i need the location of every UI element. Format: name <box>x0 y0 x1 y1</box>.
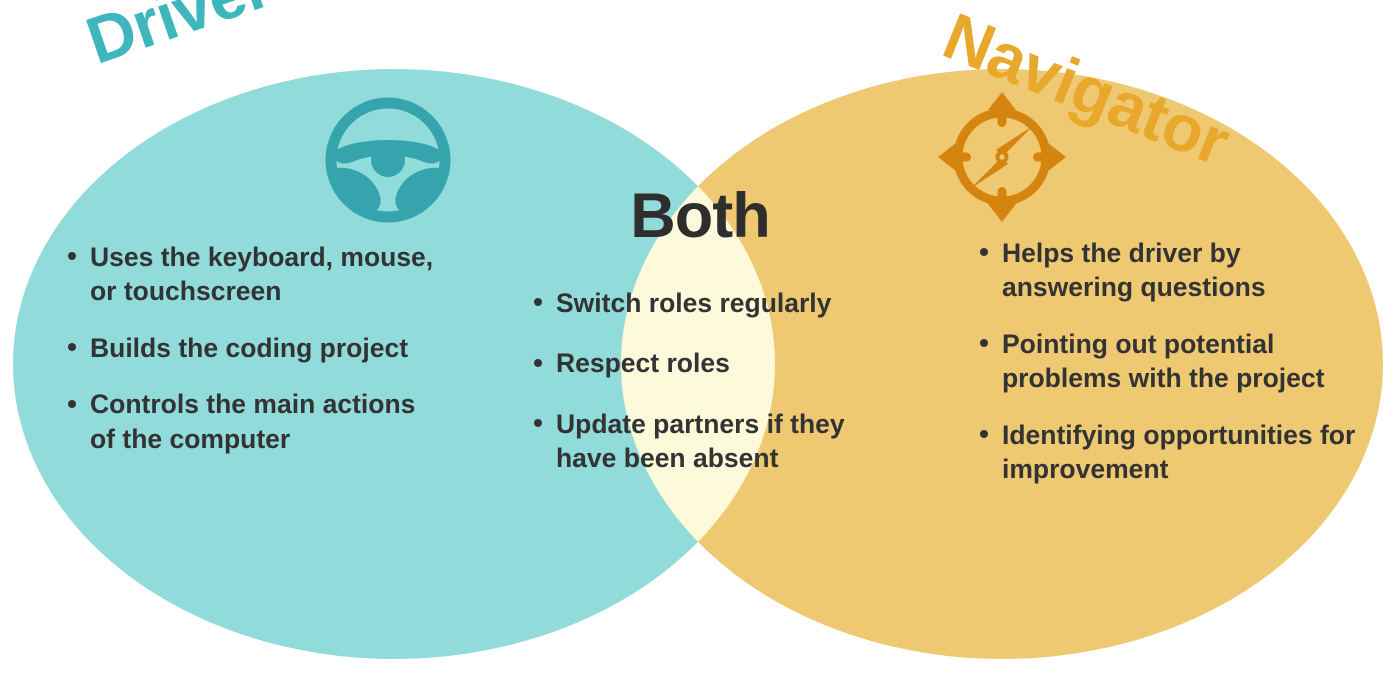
bullet-icon <box>68 252 76 260</box>
venn-diagram: Driver Navigator Uses the keyboard, mous… <box>0 0 1396 674</box>
bullet-icon <box>980 248 988 256</box>
navigator-item-label: Identifying opportunities for improvemen… <box>1002 420 1355 484</box>
list-item: Uses the keyboard, mouse, or touchscreen <box>66 240 434 309</box>
both-list: Switch roles regularly Respect roles Upd… <box>508 286 892 476</box>
list-item: Identifying opportunities for improvemen… <box>978 418 1364 487</box>
navigator-item-label: Helps the driver by answering questions <box>1002 238 1266 302</box>
bullet-icon <box>534 419 542 427</box>
list-item: Respect roles <box>532 346 892 380</box>
both-item-label: Respect roles <box>556 348 730 378</box>
driver-item-label: Uses the keyboard, mouse, or touchscreen <box>90 242 433 306</box>
navigator-list: Helps the driver by answering questions … <box>978 236 1364 487</box>
bullet-icon <box>534 359 542 367</box>
bullet-icon <box>980 430 988 438</box>
bullet-icon <box>68 343 76 351</box>
steering-wheel-icon <box>322 96 454 224</box>
driver-item-label: Controls the main actions of the compute… <box>90 389 415 453</box>
both-item-label: Switch roles regularly <box>556 288 831 318</box>
list-item: Pointing out potential problems with the… <box>978 327 1364 396</box>
list-item: Controls the main actions of the compute… <box>66 387 434 456</box>
bullet-icon <box>980 339 988 347</box>
list-item: Switch roles regularly <box>532 286 892 320</box>
driver-list: Uses the keyboard, mouse, or touchscreen… <box>66 240 434 456</box>
driver-item-label: Builds the coding project <box>90 333 408 363</box>
both-item-label: Update partners if they have been absent <box>556 409 845 473</box>
bullet-icon <box>68 400 76 408</box>
list-item: Update partners if they have been absent <box>532 407 892 476</box>
both-section: Both Switch roles regularly Respect role… <box>505 185 895 502</box>
navigator-item-label: Pointing out potential problems with the… <box>1002 329 1324 393</box>
list-item: Helps the driver by answering questions <box>978 236 1364 305</box>
list-item: Builds the coding project <box>66 331 434 365</box>
both-title: Both <box>505 185 895 248</box>
bullet-icon <box>534 298 542 306</box>
